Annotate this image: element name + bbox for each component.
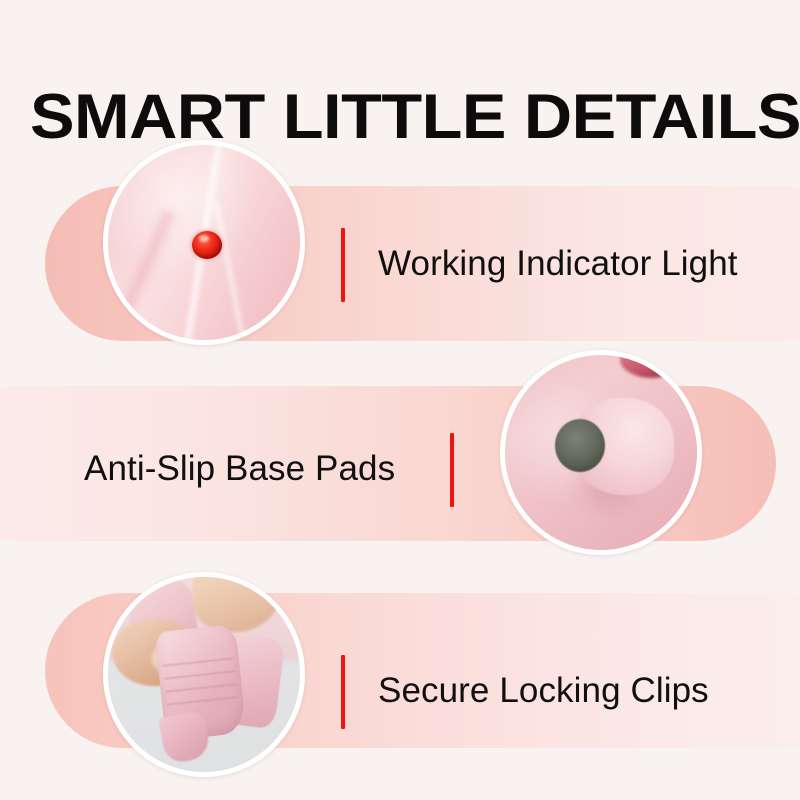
feature-label-anti-slip-base-pads: Anti-Slip Base Pads — [84, 449, 395, 489]
feature-row-working-indicator-light: Working Indicator Light — [0, 140, 800, 350]
feature-label-secure-locking-clips: Secure Locking Clips — [378, 671, 709, 711]
feature-row-secure-locking-clips: Secure Locking Clips — [0, 545, 800, 760]
accent-divider-bar — [450, 433, 454, 507]
feature-row-anti-slip-base-pads: Anti-Slip Base Pads — [0, 345, 800, 557]
housing-edge-detail — [620, 355, 674, 378]
feature-image-working-indicator-light — [103, 140, 305, 345]
led-indicator-icon — [108, 145, 300, 340]
clip-ridge — [167, 696, 238, 705]
photo-highlight — [108, 145, 262, 282]
locking-clip-icon — [108, 577, 300, 772]
anti-slip-rubber-pad — [555, 419, 605, 472]
clip-ridge — [163, 657, 234, 666]
clip-hook — [158, 710, 212, 764]
feature-image-anti-slip-base-pads — [500, 350, 702, 555]
accent-divider-bar — [341, 228, 345, 302]
infographic-canvas: SMART LITTLE DETAILS Working Indicator L… — [0, 0, 800, 800]
accent-divider-bar — [341, 655, 345, 729]
feature-image-secure-locking-clips — [103, 572, 305, 777]
clip-ridge — [164, 670, 235, 679]
feature-label-working-indicator-light: Working Indicator Light — [378, 244, 738, 284]
clip-ridge — [165, 683, 236, 692]
rubber-pad-icon — [505, 355, 697, 550]
